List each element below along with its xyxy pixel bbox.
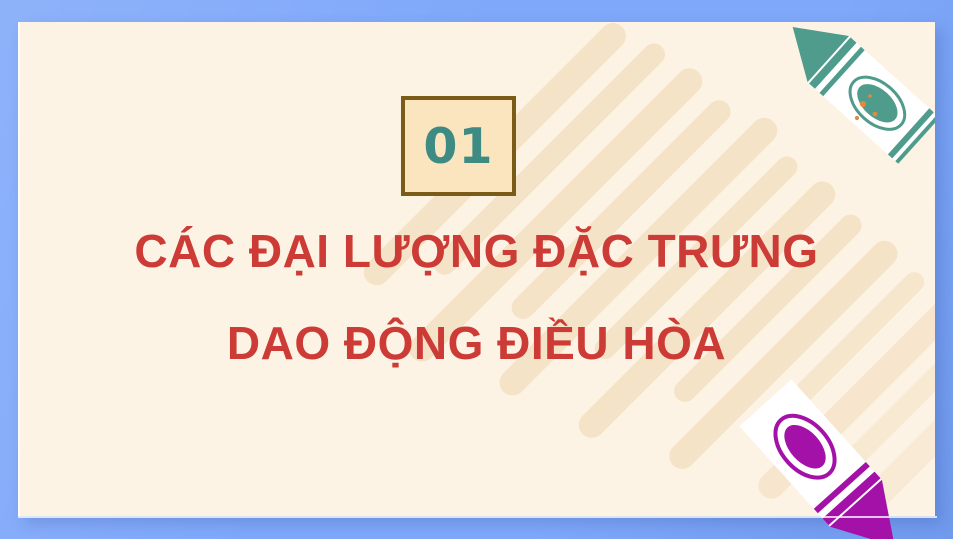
section-number: 01 [423, 122, 493, 171]
page-title: CÁC ĐẠI LƯỢNG ĐẶC TRƯNG DAO ĐỘNG ĐIỀU HÒ… [18, 228, 935, 366]
crayon-crumb [860, 101, 866, 107]
title-line-1: CÁC ĐẠI LƯỢNG ĐẶC TRƯNG [18, 228, 935, 274]
title-line-2: DAO ĐỘNG ĐIỀU HÒA [18, 320, 935, 366]
section-number-badge: 01 [401, 96, 516, 196]
crayon-crumb [855, 116, 859, 120]
crayon-crumb [868, 94, 872, 98]
crayon-crumb [873, 112, 878, 117]
slide: 01 CÁC ĐẠI LƯỢNG ĐẶC TRƯNG DAO ĐỘNG ĐIỀU… [0, 0, 953, 539]
teal-crayon-icon [739, 22, 935, 181]
